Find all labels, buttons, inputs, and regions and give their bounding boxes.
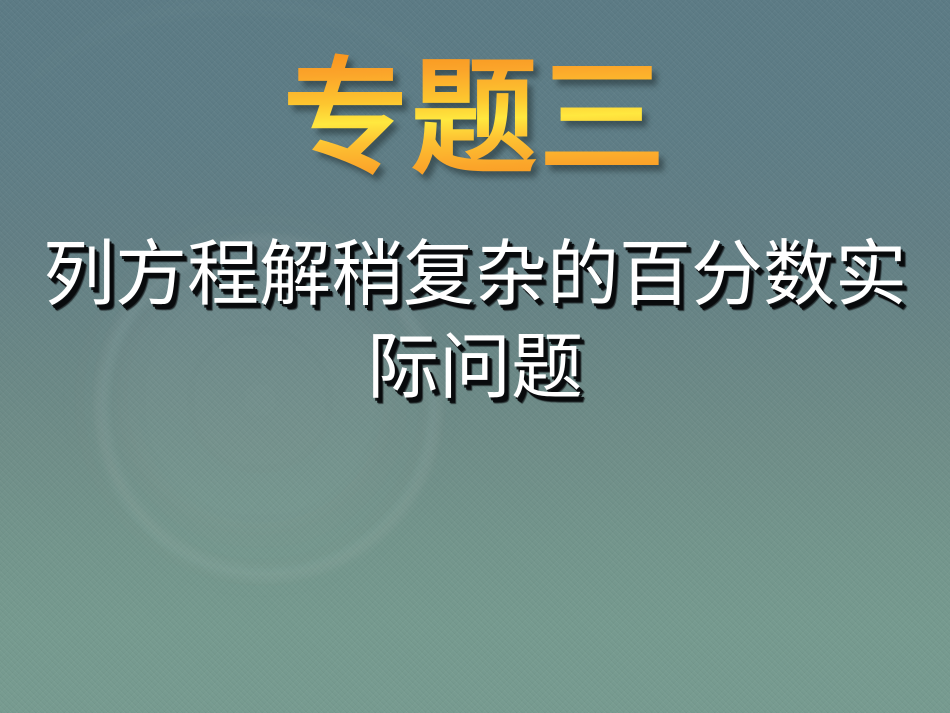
slide-title: 专题三 xyxy=(0,52,950,186)
presentation-slide: 专题三 列方程解稍复杂的百分数实 际问题 xyxy=(0,0,950,713)
slide-title-text: 专题三 xyxy=(283,52,667,186)
slide-subtitle-line-2: 际问题 xyxy=(0,321,950,414)
slide-subtitle: 列方程解稍复杂的百分数实 际问题 xyxy=(0,228,950,414)
slide-subtitle-line-1: 列方程解稍复杂的百分数实 xyxy=(0,228,950,321)
